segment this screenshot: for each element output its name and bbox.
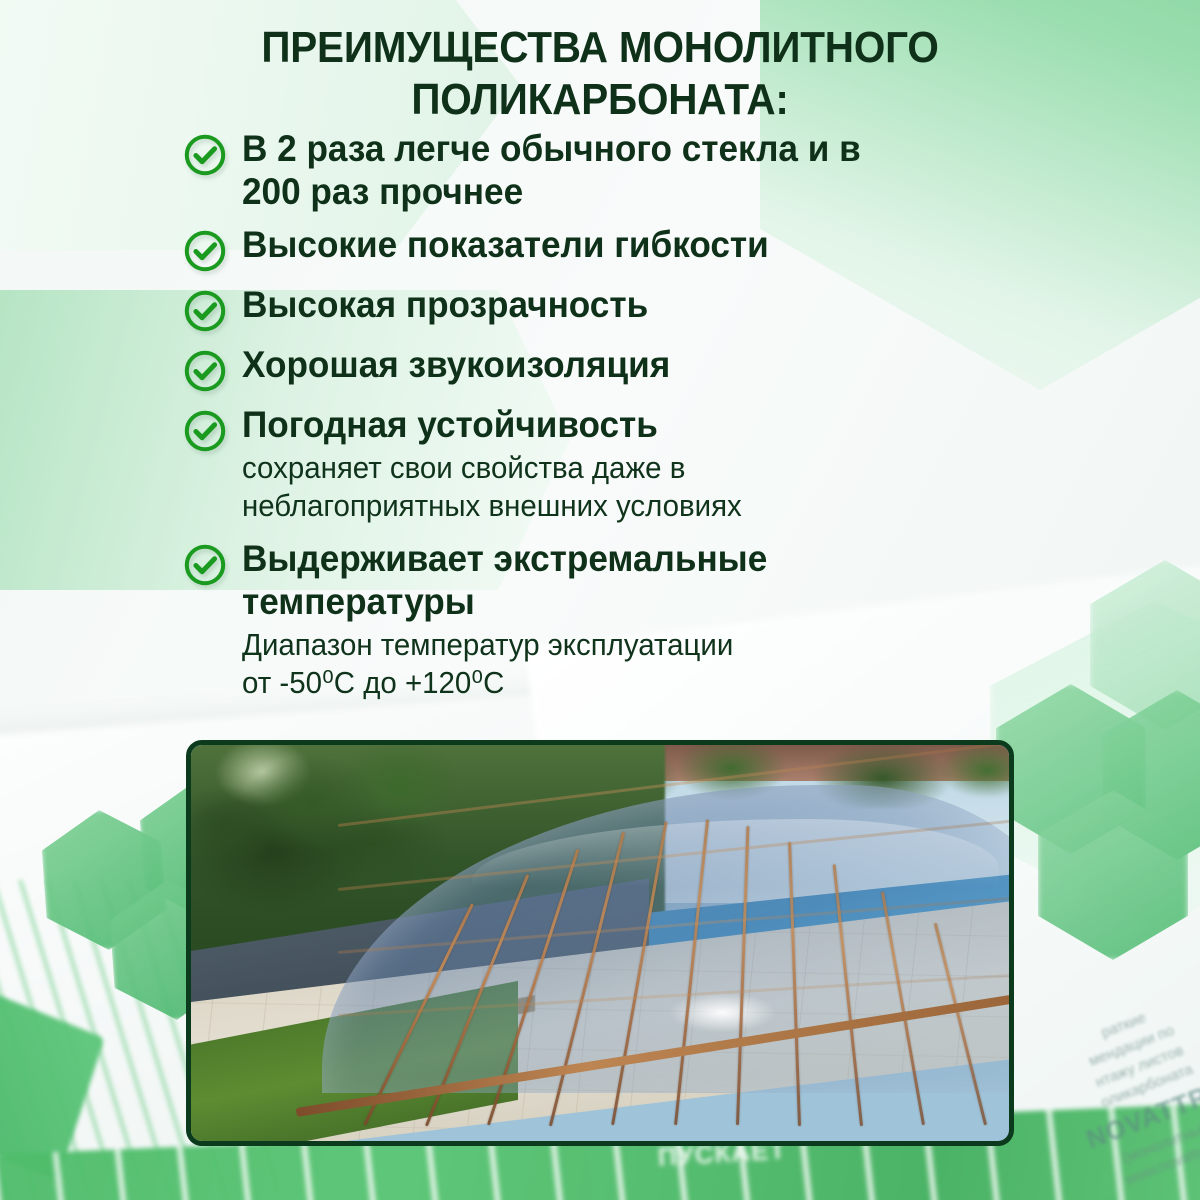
benefit-title-3: Высокая прозрачность: [242, 284, 955, 327]
benefit-body-1: В 2 раза легче обычного стекла и в 200 р…: [242, 128, 992, 214]
benefit-title-6: Выдерживает экстремальные температуры: [242, 538, 955, 624]
benefit-title-1: В 2 раза легче обычного стекла и в 200 р…: [242, 128, 955, 214]
check-circle-icon: [182, 228, 228, 274]
benefit-item-5: Погодная устойчивость сохраняет свои сво…: [182, 404, 992, 525]
benefit-title-4: Хорошая звукоизоляция: [242, 344, 955, 387]
benefit-item-1: В 2 раза легче обычного стекла и в 200 р…: [182, 128, 992, 214]
pool-photo-canvas: [191, 745, 1009, 1141]
check-circle-icon: [182, 132, 228, 178]
check-circle-icon: [182, 542, 228, 588]
check-circle-icon: [182, 408, 228, 454]
benefit-body-5: Погодная устойчивость сохраняет свои сво…: [242, 404, 992, 525]
photo-water-sparkle: [665, 991, 780, 1035]
benefit-subtitle-6: Диапазон температур эксплуатации от -50⁰…: [242, 626, 955, 702]
benefit-body-6: Выдерживает экстремальные температуры Ди…: [242, 538, 992, 701]
benefit-title-2: Высокие показатели гибкости: [242, 224, 955, 267]
benefits-list: В 2 раза легче обычного стекла и в 200 р…: [182, 128, 992, 708]
benefit-item-6: Выдерживает экстремальные температуры Ди…: [182, 538, 992, 701]
benefit-item-4: Хорошая звукоизоляция: [182, 344, 992, 394]
pool-enclosure-photo: [186, 740, 1014, 1146]
benefit-item-3: Высокая прозрачность: [182, 284, 992, 334]
poster-root: ПУСКАЕТ раткие мендации по нтажу листов …: [0, 0, 1200, 1200]
benefit-subtitle-5: сохраняет свои свойства даже в неблагопр…: [242, 449, 955, 525]
check-circle-icon: [182, 288, 228, 334]
benefit-title-5: Погодная устойчивость: [242, 404, 955, 447]
check-circle-icon: [182, 348, 228, 394]
benefit-body-4: Хорошая звукоизоляция: [242, 344, 992, 387]
benefit-item-2: Высокие показатели гибкости: [182, 224, 992, 274]
benefit-body-3: Высокая прозрачность: [242, 284, 992, 327]
page-title: ПРЕИМУЩЕСТВА МОНОЛИТНОГО ПОЛИКАРБОНАТА:: [103, 22, 1097, 126]
benefit-body-2: Высокие показатели гибкости: [242, 224, 992, 267]
